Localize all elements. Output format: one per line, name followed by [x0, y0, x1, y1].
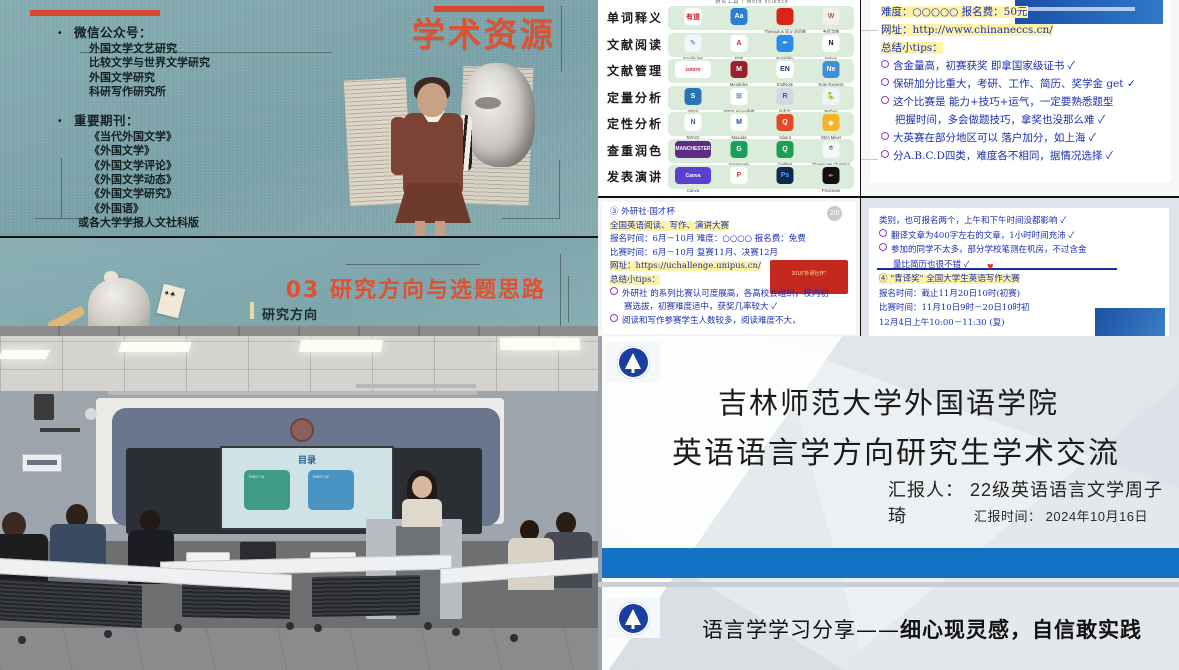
grammarly-icon: G: [731, 141, 748, 158]
photoshop-icon: Ps: [777, 167, 794, 184]
note-line-text: 网址：https://uchallenge.unipus.cn/: [610, 261, 761, 271]
handwritten-note-top[interactable]: 难度：○○○○○ 报名费：50元网址：http://www.chinaneccs…: [861, 0, 1179, 196]
tool-app[interactable]: ◆QDA Miner: [808, 113, 854, 136]
caster-wheel: [452, 628, 460, 636]
ceiling-rail: [108, 391, 478, 395]
note-line-text: 分A.B.C.D四类，难度各不相同，据情况选择 ✓: [893, 150, 1113, 162]
footer-plain: 语言学学习分享——: [702, 618, 900, 642]
note-line-text: 参加的同学不太多，部分学校笔测在机房，不过含金: [891, 245, 1087, 255]
tool-app[interactable]: ⊞SPSS Amos插件: [716, 87, 762, 110]
tool-app[interactable]: Thesaurus 同义词词典: [762, 7, 808, 30]
tool-app[interactable]: Aa: [716, 7, 762, 30]
note-line-text: 报名时间：6月－10月 难度：○○○○ 报名费：免费: [610, 234, 806, 244]
note-page: ♥ 类别，也可报名两个，上午和下午时间没都影响 ✓翻译文章为400字左右的文章，…: [869, 208, 1169, 336]
note-bullet-icon: [879, 243, 887, 251]
python-icon: 🐍: [823, 88, 840, 105]
note-line: 翻译文章为400字左右的文章，1小时时间充沛 ✓: [879, 229, 1074, 241]
tool-row: 定量分析SSPSS⊞SPSS Amos插件RR语言🐍Python: [604, 86, 854, 112]
note-bullet-icon: [881, 60, 889, 68]
tool-app[interactable]: ENEndNote: [762, 60, 808, 83]
pdf-icon: A: [731, 35, 748, 52]
tool-app[interactable]: 🐍Python: [808, 87, 854, 110]
spss-amos-icon: ⊞: [731, 88, 748, 105]
screen-card-left-label: PART 01: [249, 474, 265, 479]
tool-app-caption: Procreate: [808, 189, 854, 194]
note-line: ③ 外研社·国才杯: [610, 205, 675, 217]
note-line: 比赛时间：6月－10月 复赛11月、决赛12月: [610, 246, 778, 258]
tool-app-caption: Canva: [670, 189, 716, 194]
ceiling-light: [118, 342, 191, 352]
note-line-text: 大英赛在部分地区可以 落户加分，如上海 ✓: [893, 132, 1096, 144]
research-direction-slide[interactable]: 03 研究方向与选题思路 研究方向: [0, 238, 598, 336]
tool-app[interactable]: zotero: [670, 60, 716, 83]
bullet-dot-icon: •: [58, 28, 74, 39]
accent-bar-left: [30, 10, 160, 16]
--icon: W: [823, 8, 840, 25]
endnote-icon: EN: [777, 61, 794, 78]
notion-icon: N: [823, 35, 840, 52]
note-line-text: 总结小tips：: [610, 275, 660, 285]
screen-card-right-label: PART 02: [313, 474, 329, 479]
rule-vertical-outer: [560, 254, 561, 328]
note-line-text: 翻译文章为400字左右的文章，1小时时间充沛 ✓: [891, 231, 1074, 241]
tool-row: 发表演讲CanvaCanvaPPs✒Procreate: [604, 165, 854, 191]
ceiling-rail: [356, 384, 476, 388]
university-seal-icon: [617, 346, 650, 379]
caster-wheel: [286, 622, 294, 630]
note-line: 分A.B.C.D四类，难度各不相同，据情况选择 ✓: [881, 148, 1113, 163]
note-bracket: [861, 30, 878, 160]
ceiling-light: [499, 338, 580, 350]
tool-row-label: 单词释义: [604, 9, 666, 26]
note-line-text: 比赛时间：6月－10月 复赛11月、决赛12月: [610, 248, 778, 258]
note-line: 报名时间：截止11月20日10时(初赛): [879, 287, 1020, 299]
note-bullet-icon: [881, 150, 889, 158]
tool-app[interactable]: MMaxqda: [716, 113, 762, 136]
rule-vertical-inner: [568, 276, 569, 322]
slide-title-line2: 英语语言学方向研究生学术交流: [672, 428, 1120, 472]
tool-app[interactable]: APDF: [716, 34, 762, 57]
note-line: 比赛时间：11月10日9时－20日10时初: [879, 301, 1030, 313]
slide-footer: 语言学学习分享——细心现灵感，自信敢实践: [702, 614, 1142, 644]
screen-share-grid: 学术资源 •微信公众号： 外国文学文艺研究 比较文学与世界文学研究 外国文学研究…: [0, 0, 1179, 670]
chair-row: [312, 575, 420, 617]
floor-strip: [0, 326, 598, 336]
maxqda-icon: M: [731, 114, 748, 131]
tool-app[interactable]: MANCHESTER: [670, 140, 716, 163]
note-line: 含金量高，初赛获奖 即拿国家级证书 ✓: [881, 58, 1075, 73]
note-line-text: 类别，也可报名两个，上午和下午时间没都影响 ✓: [879, 216, 1066, 226]
wall-clock-icon: [290, 418, 314, 442]
camera-icon: [85, 408, 97, 420]
university-logo-top: [606, 342, 660, 382]
tool-row-label: 定性分析: [604, 115, 666, 132]
note-line-text: 网址：http://www.chinaneccs.cn/: [881, 24, 1053, 36]
note-line-text: 含金量高，初赛获奖 即拿国家级证书 ✓: [893, 60, 1075, 72]
poster-caption: 2018"外研社杯": [770, 270, 848, 277]
university-seal-icon: [617, 602, 650, 635]
note-page: 难度：○○○○○ 报名费：50元网址：http://www.chinaneccs…: [871, 0, 1171, 182]
--icon: 有道: [685, 8, 702, 25]
note-line-text: 这个比赛是 能力+技巧+运气，一定要熟悉题型: [893, 96, 1113, 108]
rule-vertical-bottom-right: [559, 160, 560, 218]
note-line: 网址：http://www.chinaneccs.cn/: [881, 22, 1053, 37]
screen-slide-title: 目录: [222, 453, 392, 466]
note-page: 2/9 2018"外研社杯" ③ 外研社·国才杯全国英语阅读、写作、演讲大赛报名…: [602, 202, 856, 334]
presenter-head: [412, 476, 432, 498]
note-line: 外研社 的系列比赛认可度展高，各高校会组织，校内初: [610, 287, 829, 299]
slide-title-line1: 吉林师范大学外国语学院: [718, 380, 1059, 422]
canva-icon: Canva: [675, 167, 711, 184]
atlas-ti-icon: Q: [777, 114, 794, 131]
caster-wheel: [174, 624, 182, 632]
note-line: 网址：https://uchallenge.unipus.cn/: [610, 259, 761, 271]
speaker-icon: [34, 394, 54, 420]
university-logo-bottom: [606, 598, 660, 638]
note-line: 量比简历也很不错 ✓: [893, 258, 970, 270]
ceiling-light: [0, 350, 50, 359]
playing-card-icon: [157, 284, 186, 318]
collage-illustration: [345, 55, 535, 236]
note-line: 总结小tips：: [881, 40, 943, 55]
screen-card-right: PART 02: [308, 470, 354, 510]
slide-left-edge: [598, 336, 602, 670]
tool-app[interactable]: 有道: [670, 7, 716, 30]
tool-row: 定性分析NNVIVOMMaxqdaQAtlas.ti◆QDA Miner: [604, 112, 854, 138]
tool-row-label: 查重润色: [604, 142, 666, 159]
note-line: 大英赛在部分地区可以 落户加分，如上海 ✓: [881, 130, 1096, 145]
caster-wheel: [424, 622, 432, 630]
note-line-text: 把握时间，多会做题技巧，拿奖也没那么难 ✓: [895, 114, 1105, 126]
note-line-text: 赛选拔，初赛难度适中，获奖几率较大 ✓: [624, 302, 777, 312]
projection-screen: 目录 PART 01 PART 02: [220, 446, 394, 530]
note-line: 难度：○○○○○ 报名费：50元: [881, 4, 1028, 19]
handwritten-note-mid-left[interactable]: 2/9 2018"外研社杯" ③ 外研社·国才杯全国英语阅读、写作、演讲大赛报名…: [598, 198, 860, 336]
note-line: 阅读和写作参赛学生人数较多，阅读难度不大，: [610, 314, 801, 326]
tool-app[interactable]: P: [716, 166, 762, 189]
accent-band: [602, 548, 1179, 578]
research-tool-table[interactable]: 研究工具 / Word science 单词释义有道AaThesaurus 同义…: [598, 0, 860, 196]
tool-app[interactable]: W韦氏字典: [808, 7, 854, 30]
tool-row: 文献管理zoteroMMendeleyENEndNoteNeNote Expre…: [604, 59, 854, 85]
note-line: 12月4日上午10:00－11:30 (复): [879, 316, 1005, 328]
spss-icon: S: [685, 88, 702, 105]
note-line: 参加的同学不太多，部分学校笔测在机房，不过含金: [879, 243, 1087, 255]
caster-wheel: [18, 636, 26, 644]
note-bullet-icon: [610, 314, 618, 322]
nvivo-icon: N: [685, 114, 702, 131]
presenter-body: [402, 499, 442, 527]
note-line-text: 量比简历也很不错 ✓: [893, 260, 970, 270]
tool-app[interactable]: ✒Procreate: [808, 166, 854, 189]
note-line-text: ③ 外研社·国才杯: [610, 207, 675, 217]
tool-app[interactable]: Ps: [762, 166, 808, 189]
powerpoint-icon: P: [731, 167, 748, 184]
competition-banner-thumbnail: [1015, 0, 1163, 24]
tool-row-label: 文献管理: [604, 62, 666, 79]
tool-row: 查重润色MANCHESTERGGrammarlyQQuillBot⌾iThent…: [604, 139, 854, 165]
tool-app[interactable]: ✒Notability: [762, 34, 808, 57]
figure-torso: [403, 113, 463, 193]
note-line: 保研加分比重大，考研、工作、简历、奖学金 get ✓: [881, 76, 1136, 91]
mendeley-icon: M: [731, 61, 748, 78]
note-bullet-icon: [881, 78, 889, 86]
note-express-icon: Ne: [823, 61, 840, 78]
caster-wheel: [314, 624, 322, 632]
tool-app[interactable]: NNVIVO: [670, 113, 716, 136]
academic-resources-slide[interactable]: 学术资源 •微信公众号： 外国文学文艺研究 比较文学与世界文学研究 外国文学研究…: [0, 0, 598, 236]
tool-app[interactable]: QQuillBot: [762, 140, 808, 163]
screen-card-left: PART 01: [244, 470, 290, 510]
tool-app[interactable]: NNotion: [808, 34, 854, 57]
note-line: ④ "青译奖" 全国大学生英语写作大赛: [879, 272, 1020, 284]
footer-bold: 细心现灵感，自信敢实践: [900, 618, 1142, 642]
note-line: 全国英语阅读、写作、演讲大赛: [610, 219, 729, 231]
figure-head: [417, 83, 447, 117]
note-line: 把握时间，多会做题技巧，拿奖也没那么难 ✓: [895, 112, 1105, 127]
note-line-text: 保研加分比重大，考研、工作、简历、奖学金 get ✓: [893, 78, 1136, 90]
note-line-text: 难度：○○○○○ 报名费：50元: [881, 6, 1028, 18]
wall-sign: [22, 454, 62, 472]
tool-app[interactable]: ✎Goodnotes: [670, 34, 716, 57]
note-line-text: ④ "青译奖" 全国大学生英语写作大赛: [879, 274, 1020, 284]
section-subtitle-marker: [250, 302, 254, 319]
tool-table-header: 研究工具 / Word science: [672, 0, 832, 5]
tool-row: 文献阅读✎GoodnotesAPDF✒NotabilityNNotion: [604, 33, 854, 59]
academic-phrasebank-icon: MANCHESTER: [675, 141, 711, 158]
slide-title: 学术资源: [412, 8, 556, 56]
note-line: 总结小tips：: [610, 273, 660, 285]
r--icon: R: [777, 88, 794, 105]
note-line-text: 外研社 的系列比赛认可度展高，各高校会组织，校内初: [622, 289, 829, 299]
tool-app[interactable]: QAtlas.ti: [762, 113, 808, 136]
tool-app[interactable]: ⌾iThenticate (Turnitin): [808, 140, 854, 163]
figure-leg-left: [415, 221, 425, 236]
tool-row-label: 发表演讲: [604, 168, 666, 185]
bird-icon: [104, 271, 118, 282]
tool-app[interactable]: GGrammarly: [716, 140, 762, 163]
note-line-text: 阅读和写作参赛学生人数较多，阅读难度不大，: [622, 316, 801, 326]
classroom-photo[interactable]: 目录 PART 01 PART 02: [0, 336, 598, 670]
floor: [0, 628, 598, 670]
slide-separator: [598, 582, 1179, 587]
handwritten-note-mid-right[interactable]: ♥ 类别，也可报名两个，上午和下午时间没都影响 ✓翻译文章为400字左右的文章，…: [861, 198, 1179, 336]
caster-wheel: [104, 630, 112, 638]
note-line: 赛选拔，初赛难度适中，获奖几率较大 ✓: [624, 300, 777, 312]
note-bullet-icon: [881, 96, 889, 104]
qda-miner-icon: ◆: [823, 114, 840, 131]
note-line-text: 12月4日上午10:00－11:30 (复): [879, 318, 1005, 328]
chair-row: [0, 578, 142, 628]
ppt-title-slide[interactable]: 吉林师范大学外国语学院 英语语言学方向研究生学术交流 汇报人： 22级英语语言文…: [598, 336, 1179, 670]
procreate-icon: ✒: [823, 167, 840, 184]
ithenticate-icon: ⌾: [823, 141, 840, 158]
bullet-dot-icon: •: [58, 116, 74, 127]
tool-row-label: 定量分析: [604, 89, 666, 106]
classical-bust-icon: [461, 63, 535, 167]
date-line: 汇报时间： 2024年10月16日: [974, 506, 1148, 525]
--icon: Aa: [731, 8, 748, 25]
note-bullet-icon: [881, 132, 889, 140]
group-heading-wechat: •微信公众号：: [58, 22, 398, 41]
note-line-text: 比赛时间：11月10日9时－20日10时初: [879, 303, 1030, 313]
section-subtitle: 研究方向: [262, 304, 318, 323]
note-bullet-icon: [879, 229, 887, 237]
note-line: 报名时间：6月－10月 难度：○○○○ 报名费：免费: [610, 232, 806, 244]
note-line-text: 全国英语阅读、写作、演讲大赛: [610, 221, 729, 231]
poster-thumbnail: [1095, 308, 1165, 336]
tool-app[interactable]: NeNote Express: [808, 60, 854, 83]
note-line: 这个比赛是 能力+技巧+运气，一定要熟悉题型: [881, 94, 1113, 109]
section-title: 03 研究方向与选题思路: [286, 272, 546, 304]
presenter-label: 汇报人：: [888, 480, 964, 500]
notability-icon: ✒: [777, 35, 794, 52]
zotero-icon: zotero: [675, 61, 711, 78]
rule-horizontal: [346, 264, 480, 265]
figure-skirt: [395, 183, 471, 223]
ceiling-light: [299, 340, 383, 352]
date-value: 2024年10月16日: [1046, 509, 1148, 524]
tool-app[interactable]: SSPSS: [670, 87, 716, 110]
note-line-text: 报名时间：截止11月20日10时(初赛): [879, 289, 1020, 299]
rule-vertical-top-right: [561, 6, 562, 72]
date-label: 汇报时间：: [974, 509, 1042, 524]
note-line-text: 总结小tips：: [881, 42, 943, 54]
figure-leg-right: [435, 221, 445, 236]
tool-app[interactable]: CanvaCanva: [670, 166, 716, 189]
thesaurus-icon: [777, 8, 794, 25]
note-bullet-icon: [610, 287, 618, 295]
quillbot-icon: Q: [777, 141, 794, 158]
tool-app[interactable]: RR语言: [762, 87, 808, 110]
goodnotes-icon: ✎: [685, 35, 702, 52]
page-indicator: 2/9: [827, 206, 842, 221]
note-line: 类别，也可报名两个，上午和下午时间没都影响 ✓: [879, 214, 1066, 226]
tool-row-label: 文献阅读: [604, 36, 666, 53]
caster-wheel: [510, 634, 518, 642]
tool-row: 单词释义有道AaThesaurus 同义词词典W韦氏字典: [604, 6, 854, 32]
wall-shelf: [40, 428, 80, 432]
tool-app[interactable]: MMendeley: [716, 60, 762, 83]
